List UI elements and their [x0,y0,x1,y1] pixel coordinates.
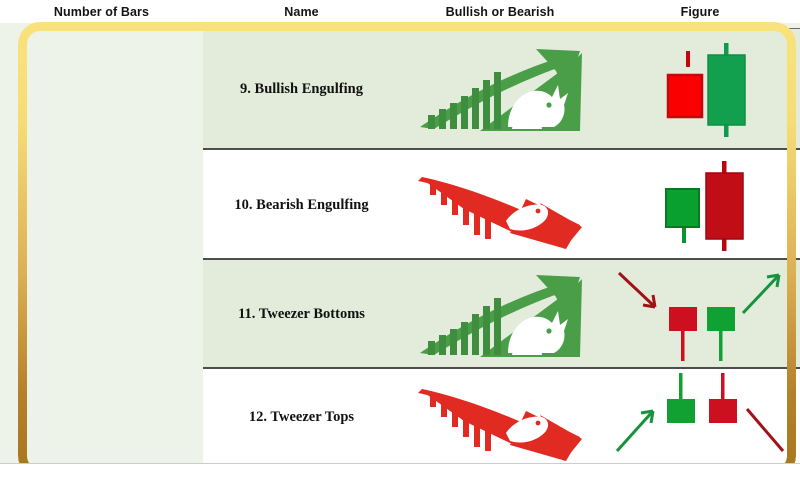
pattern-name: 11. Tweezer Bottoms [203,260,400,369]
figure-tweezer-bottoms [600,260,800,369]
table-row[interactable]: 9. Bullish Engulfing [203,28,800,149]
column-header-number-of-bars: Number of Bars [0,0,203,23]
direction-illustration-bearish [400,150,600,260]
pattern-name: 12. Tweezer Tops [203,369,400,465]
table-row[interactable]: 11. Tweezer Bottoms [203,258,800,369]
direction-illustration-bullish [400,260,600,369]
table-row[interactable]: 12. Tweezer Tops [203,367,800,465]
column-header-figure: Figure [600,0,800,23]
table-header-row: Number of Bars Name Bullish or Bearish F… [0,0,800,24]
table-row[interactable]: 10. Bearish Engulfing [203,148,800,260]
pattern-name: 10. Bearish Engulfing [203,150,400,260]
bottom-strip [0,463,800,481]
column-header-name: Name [203,0,400,23]
pattern-name: 9. Bullish Engulfing [203,29,400,149]
column-header-bullish-or-bearish: Bullish or Bearish [400,0,600,23]
figure-tweezer-tops [600,369,800,465]
table-body: 9. Bullish Engulfing [0,23,800,463]
figure-bullish-engulfing [600,29,800,149]
direction-illustration-bearish [400,369,600,465]
direction-illustration-bullish [400,29,600,149]
candlestick-pattern-table-page: Number of Bars Name Bullish or Bearish F… [0,0,800,480]
figure-bearish-engulfing [600,150,800,260]
